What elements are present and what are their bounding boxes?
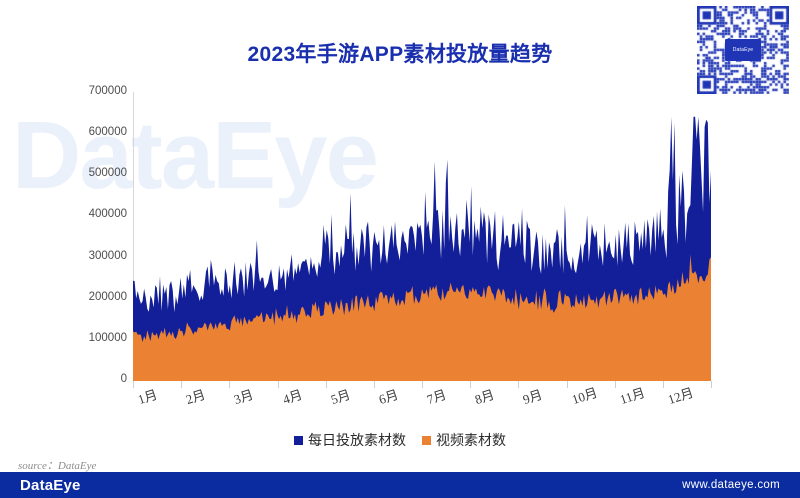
legend-label: 每日投放素材数 [308, 430, 406, 450]
x-tick-mark [133, 381, 134, 388]
footer-logo: DataEye [20, 477, 81, 494]
x-tick-mark [181, 381, 182, 388]
y-tick-label: 300000 [57, 250, 127, 262]
x-tick-mark [278, 381, 279, 388]
x-tick-label: 10月 [569, 382, 600, 408]
x-tick-label: 8月 [472, 384, 496, 408]
x-tick-mark [518, 381, 519, 388]
x-tick-label: 9月 [520, 384, 544, 408]
chart-legend: 每日投放素材数视频素材数 [0, 430, 800, 450]
x-tick-label: 1月 [135, 384, 159, 408]
x-tick-mark [615, 381, 616, 388]
x-tick-label: 12月 [665, 382, 696, 408]
x-tick-mark [374, 381, 375, 388]
stacked-area-chart [133, 92, 711, 380]
x-tick-label: 5月 [328, 384, 352, 408]
legend-swatch-icon [422, 436, 431, 445]
y-tick-label: 200000 [57, 291, 127, 303]
y-tick-label: 500000 [57, 167, 127, 179]
y-tick-label: 600000 [57, 126, 127, 138]
y-axis-ticks: 0100000200000300000400000500000600000700… [55, 0, 127, 498]
x-tick-label: 3月 [231, 384, 255, 408]
x-tick-mark [567, 381, 568, 388]
y-tick-label: 0 [57, 373, 127, 385]
x-tick-mark [422, 381, 423, 388]
source-note: source：DataEye [18, 457, 96, 473]
x-tick-label: 7月 [424, 384, 448, 408]
y-tick-label: 100000 [57, 332, 127, 344]
x-tick-mark [229, 381, 230, 388]
y-tick-label: 700000 [57, 85, 127, 97]
x-tick-mark [326, 381, 327, 388]
x-tick-label: 6月 [376, 384, 400, 408]
x-tick-label: 11月 [617, 382, 647, 408]
x-tick-mark [470, 381, 471, 388]
y-tick-label: 400000 [57, 208, 127, 220]
x-tick-label: 2月 [183, 384, 207, 408]
legend-item[interactable]: 视频素材数 [422, 430, 506, 450]
footer-bar: DataEye www.dataeye.com [0, 472, 800, 498]
legend-item[interactable]: 每日投放素材数 [294, 430, 406, 450]
footer-url[interactable]: www.dataeye.com [682, 479, 780, 491]
legend-swatch-icon [294, 436, 303, 445]
x-tick-mark [663, 381, 664, 388]
x-tick-label: 4月 [280, 384, 304, 408]
legend-label: 视频素材数 [436, 430, 506, 450]
x-tick-mark [711, 381, 712, 388]
